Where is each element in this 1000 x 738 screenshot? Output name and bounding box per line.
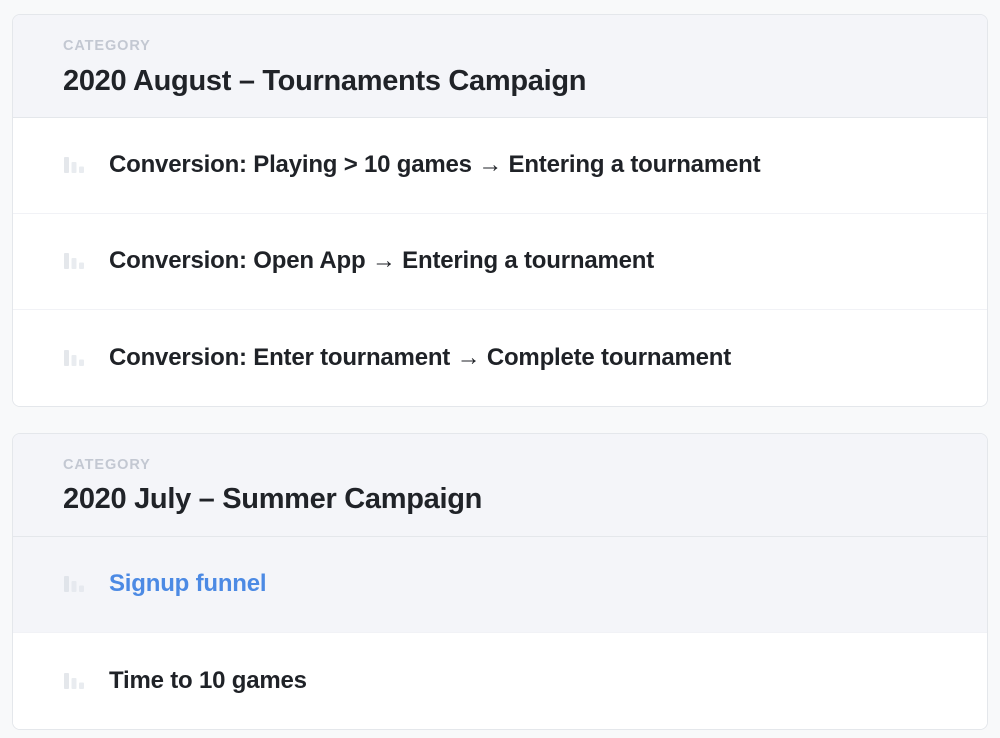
category-card: CATEGORY 2020 July – Summer Campaign Sig… — [12, 433, 988, 730]
list-item[interactable]: Time to 10 games — [13, 633, 987, 729]
category-eyebrow-label: CATEGORY — [63, 39, 987, 54]
bar-chart-icon — [63, 670, 85, 692]
bar-chart-icon — [63, 250, 85, 272]
list-item-label: Time to 10 games — [109, 668, 307, 694]
list-item-label[interactable]: Signup funnel — [109, 571, 266, 597]
category-title: 2020 August – Tournaments Campaign — [63, 65, 987, 97]
category-card-header: CATEGORY 2020 July – Summer Campaign — [13, 434, 987, 537]
category-card: CATEGORY 2020 August – Tournaments Campa… — [12, 14, 988, 407]
list-item[interactable]: Conversion: Playing > 10 games → Enterin… — [13, 118, 987, 214]
list-item[interactable]: Conversion: Enter tournament → Complete … — [13, 310, 987, 406]
list-item-selected[interactable]: Signup funnel — [13, 537, 987, 633]
bar-chart-icon — [63, 573, 85, 595]
list-item[interactable]: Conversion: Open App → Entering a tourna… — [13, 214, 987, 310]
category-title: 2020 July – Summer Campaign — [63, 483, 987, 515]
list-item-label: Conversion: Playing > 10 games → Enterin… — [109, 152, 760, 178]
category-eyebrow-label: CATEGORY — [63, 458, 987, 473]
list-item-label: Conversion: Open App → Entering a tourna… — [109, 248, 654, 274]
bar-chart-icon — [63, 154, 85, 176]
category-card-header: CATEGORY 2020 August – Tournaments Campa… — [13, 15, 987, 118]
insights-list-page: CATEGORY 2020 August – Tournaments Campa… — [0, 0, 1000, 738]
bar-chart-icon — [63, 347, 85, 369]
list-item-label: Conversion: Enter tournament → Complete … — [109, 345, 731, 371]
